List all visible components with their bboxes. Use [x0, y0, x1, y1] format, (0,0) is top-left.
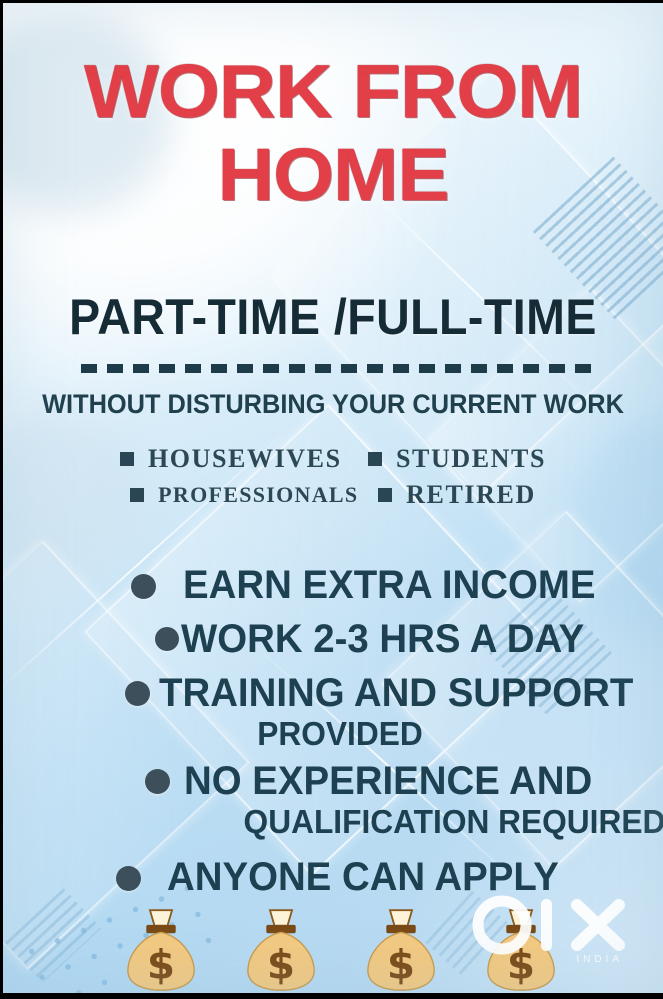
- dashed-divider: [81, 364, 591, 373]
- svg-text:$: $: [387, 940, 415, 988]
- round-bullet-icon: [131, 574, 156, 599]
- benefit-continuation-qualification: QUALIFICATION REQUIRED: [244, 803, 655, 841]
- audience-label: STUDENTS: [396, 444, 546, 474]
- work-from-home-poster: WORK FROM HOME PART-TIME /FULL-TIME WITH…: [0, 0, 663, 999]
- round-bullet-icon: [155, 627, 179, 651]
- money-bag-icon: $: [355, 901, 447, 993]
- benefit-item-work-hours: WORK 2-3 HRS A DAY: [155, 619, 663, 659]
- benefit-label: TRAINING AND SUPPORT: [159, 673, 633, 713]
- round-bullet-icon: [125, 681, 150, 706]
- poster-subtitle: PART-TIME /FULL-TIME: [26, 288, 640, 346]
- benefits-list: EARN EXTRA INCOME WORK 2-3 HRS A DAY TRA…: [3, 565, 663, 897]
- benefit-item-no-experience: NO EXPERIENCE AND: [145, 761, 663, 801]
- audience-list: HOUSEWIVES STUDENTS PROFESSIONALS RETIRE…: [3, 444, 663, 510]
- round-bullet-icon: [145, 769, 170, 794]
- audience-item-housewives: HOUSEWIVES: [120, 444, 368, 474]
- poster-headline: WORK FROM HOME: [3, 55, 663, 211]
- audience-item-professionals: PROFESSIONALS: [130, 482, 378, 508]
- benefit-label: EARN EXTRA INCOME: [183, 565, 595, 605]
- audience-label: HOUSEWIVES: [148, 444, 342, 474]
- headline-line-1: WORK FROM: [0, 55, 663, 129]
- svg-text:$: $: [267, 940, 295, 988]
- audience-row: PROFESSIONALS RETIRED: [130, 480, 536, 510]
- audience-label: PROFESSIONALS: [158, 482, 358, 508]
- olx-watermark-logo: [469, 895, 645, 961]
- svg-text:$: $: [147, 940, 175, 988]
- square-bullet-icon: [120, 452, 134, 466]
- poster-tagline: WITHOUT DISTURBING YOUR CURRENT WORK: [23, 389, 643, 420]
- money-bag-icon: $: [115, 901, 207, 993]
- square-bullet-icon: [378, 488, 392, 502]
- headline-line-2: HOME: [0, 139, 663, 212]
- benefit-item-training-support: TRAINING AND SUPPORT: [125, 673, 663, 713]
- audience-item-retired: RETIRED: [378, 480, 536, 510]
- square-bullet-icon: [130, 488, 144, 502]
- benefit-item-earn-extra-income: EARN EXTRA INCOME: [131, 565, 663, 605]
- benefit-label: WORK 2-3 HRS A DAY: [181, 619, 584, 659]
- olx-watermark-region: INDIA: [576, 954, 623, 965]
- square-bullet-icon: [368, 452, 382, 466]
- audience-item-students: STUDENTS: [368, 444, 546, 474]
- benefit-label: NO EXPERIENCE AND: [184, 761, 592, 801]
- money-bag-icon: $: [235, 901, 327, 993]
- audience-row: HOUSEWIVES STUDENTS: [120, 444, 546, 474]
- benefit-continuation-provided: PROVIDED: [257, 715, 654, 753]
- poster-content: WORK FROM HOME PART-TIME /FULL-TIME WITH…: [3, 3, 663, 993]
- audience-label: RETIRED: [406, 480, 536, 510]
